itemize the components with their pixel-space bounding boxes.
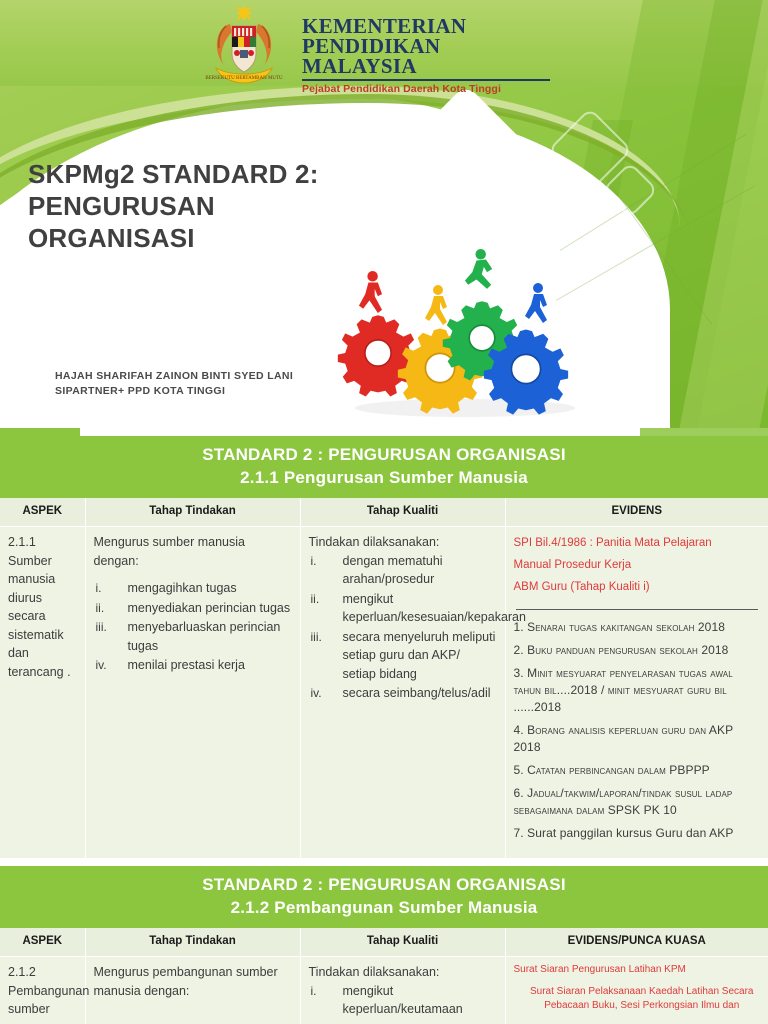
list-marker: iv. [311,684,322,703]
column-header-aspek: ASPEK [0,928,85,957]
column-header-aspek: ASPEK [0,498,85,527]
column-header-evidens: EVIDENS [505,498,768,527]
cell-tahap-kualiti: Tindakan dilaksanakan: i.mengikut keperl… [300,957,505,1024]
cell-evidens: SPI Bil.4/1986 : Panitia Mata Pelajaran … [505,527,768,859]
list-text: dengan mematuhi arahan/prosedur [343,554,443,587]
list-item: ii.menyediakan perincian tugas [94,599,292,618]
list-text: secara menyeluruh meliputi setiap guru d… [343,630,496,681]
band-gap [0,858,768,866]
column-header-tahap-tindakan: Tahap Tindakan [85,498,300,527]
section-211: STANDARD 2 : PENGURUSAN ORGANISASI 2.1.1… [0,428,768,858]
evidens-source-2: Surat Siaran Pelaksanaan Kaedah Latihan … [514,985,761,999]
list-marker: i. [311,982,317,1001]
list-marker: ii. [311,590,320,609]
section-band-211: STANDARD 2 : PENGURUSAN ORGANISASI 2.1.1… [0,436,768,498]
cell-tahap-tindakan: Mengurus pembangunan sumber manusia deng… [85,957,300,1024]
table-row: 2.1.2 Pembangunan sumber Mengurus pemban… [0,957,768,1024]
ministry-subtitle: Pejabat Pendidikan Daerah Kota Tinggi [302,83,550,95]
list-text: menilai prestasi kerja [128,658,245,672]
evidens-source-2: Manual Prosedur Kerja [514,555,761,575]
list-marker: iv. [96,656,107,675]
slide-page: BERSEKUTU BERTAMBAH MUTU KEMENTERIAN PEN… [0,0,768,1024]
list-marker: i. [311,552,317,571]
gears-with-people-icon [330,243,600,423]
list-item: i.mengikut keperluan/keutamaan [309,982,497,1019]
list-item: 5. Catatan perbincangan dalam PBPPP [514,762,761,779]
evidens-source-1: Surat Siaran Pengurusan Latihan KPM [514,963,761,977]
column-header-tahap-kualiti: Tahap Kualiti [300,498,505,527]
presenter-info: HAJAH SHARIFAH ZAINON BINTI SYED LANI SI… [55,369,293,399]
list-item: iii.secara menyeluruh meliputi setiap gu… [309,628,497,684]
list-item: 2. Buku panduan pengurusan sekolah 2018 [514,642,761,659]
list-text: mengikut keperluan/kesesuaian/kepakaran [343,592,526,625]
hero-banner: BERSEKUTU BERTAMBAH MUTU KEMENTERIAN PEN… [0,0,768,428]
band-tab-right [640,428,768,436]
band-line-2: 2.1.1 Pengurusan Sumber Manusia [0,466,768,489]
tindakan-lead: Mengurus sumber manusia dengan: [94,533,292,570]
column-header-evidens-punca-kuasa: EVIDENS/PUNCA KUASA [505,928,768,957]
evidens-source-1: SPI Bil.4/1986 : Panitia Mata Pelajaran [514,533,761,553]
section-band-212: STANDARD 2 : PENGURUSAN ORGANISASI 2.1.2… [0,866,768,928]
ministry-wordmark: KEMENTERIAN PENDIDIKAN MALAYSIA Pejabat … [302,6,550,95]
kualiti-list: i.dengan mematuhi arahan/prosedur ii.men… [309,552,497,703]
band-line-1: STANDARD 2 : PENGURUSAN ORGANISASI [0,873,768,896]
section-212: STANDARD 2 : PENGURUSAN ORGANISASI 2.1.2… [0,858,768,1024]
page-title: SKPMg2 STANDARD 2: PENGURUSAN ORGANISASI [28,158,358,254]
list-text: menyediakan perincian tugas [128,601,291,615]
svg-text:BERSEKUTU BERTAMBAH MUTU: BERSEKUTU BERTAMBAH MUTU [205,76,283,81]
ministry-line-2: PENDIDIKAN [302,36,550,56]
presenter-name: HAJAH SHARIFAH ZAINON BINTI SYED LANI [55,369,293,384]
list-item: ii.mengikut keperluan/kesesuaian/kepakar… [309,590,497,627]
kualiti-list: i.mengikut keperluan/keutamaan [309,982,497,1019]
list-item: iv.menilai prestasi kerja [94,656,292,675]
malaysia-coat-of-arms-icon: BERSEKUTU BERTAMBAH MUTU [196,6,292,84]
evidens-divider [516,609,759,610]
list-item: 4. Borang analisis keperluan guru dan AK… [514,722,761,756]
list-item: 7. Surat panggilan kursus Guru dan AKP [514,825,761,842]
column-header-tahap-tindakan: Tahap Tindakan [85,928,300,957]
list-marker: i. [96,579,102,598]
table-212: ASPEK Tahap Tindakan Tahap Kualiti EVIDE… [0,928,768,1024]
list-item: iv.secara seimbang/telus/adil [309,684,497,703]
list-marker: iii. [311,628,322,647]
kualiti-lead: Tindakan dilaksanakan: [309,533,497,552]
table-row: 2.1.1 Sumber manusia diurus secara siste… [0,527,768,859]
tindakan-list: i.mengagihkan tugas ii.menyediakan perin… [94,579,292,675]
evidens-list: 1. Senarai tugas kakitangan sekolah 2018… [514,619,761,842]
ministry-divider [302,79,550,81]
evidens-source-3: ABM Guru (Tahap Kualiti i) [514,577,761,597]
table-header-row: ASPEK Tahap Tindakan Tahap Kualiti EVIDE… [0,928,768,957]
list-text: secara seimbang/telus/adil [343,686,491,700]
list-marker: ii. [96,599,105,618]
band-tab-left [0,428,80,436]
cell-evidens-punca-kuasa: Surat Siaran Pengurusan Latihan KPM Sura… [505,957,768,1024]
list-text: mengagihkan tugas [128,581,237,595]
cell-tahap-kualiti: Tindakan dilaksanakan: i.dengan mematuhi… [300,527,505,859]
column-header-tahap-kualiti: Tahap Kualiti [300,928,505,957]
list-item: i.dengan mematuhi arahan/prosedur [309,552,497,589]
list-text: menyebarluaskan perincian tugas [128,620,281,653]
band-gap [0,428,768,436]
ministry-line-3: MALAYSIA [302,56,550,76]
list-item: 6. Jadual/takwim/laporan/tindak susul la… [514,785,761,819]
ministry-logo: BERSEKUTU BERTAMBAH MUTU KEMENTERIAN PEN… [196,6,550,95]
kualiti-lead: Tindakan dilaksanakan: [309,963,497,982]
table-header-row: ASPEK Tahap Tindakan Tahap Kualiti EVIDE… [0,498,768,527]
cell-tahap-tindakan: Mengurus sumber manusia dengan: i.mengag… [85,527,300,859]
list-item: i.mengagihkan tugas [94,579,292,598]
evidens-source-3: Pebacaan Buku, Sesi Perkongsian Ilmu dan [514,999,761,1013]
cell-aspek: 2.1.2 Pembangunan sumber [0,957,85,1024]
list-item: iii.menyebarluaskan perincian tugas [94,618,292,655]
band-line-2: 2.1.2 Pembangunan Sumber Manusia [0,896,768,919]
ministry-line-1: KEMENTERIAN [302,16,550,36]
list-marker: iii. [96,618,107,637]
table-211: ASPEK Tahap Tindakan Tahap Kualiti EVIDE… [0,498,768,858]
presenter-role: SIPARTNER+ PPD KOTA TINGGI [55,384,293,399]
list-item: 3. Minit mesyuarat penyelarasan tugas aw… [514,665,761,716]
cell-aspek: 2.1.1 Sumber manusia diurus secara siste… [0,527,85,859]
list-text: mengikut keperluan/keutamaan [343,984,463,1017]
list-item: 1. Senarai tugas kakitangan sekolah 2018 [514,619,761,636]
band-line-1: STANDARD 2 : PENGURUSAN ORGANISASI [0,443,768,466]
